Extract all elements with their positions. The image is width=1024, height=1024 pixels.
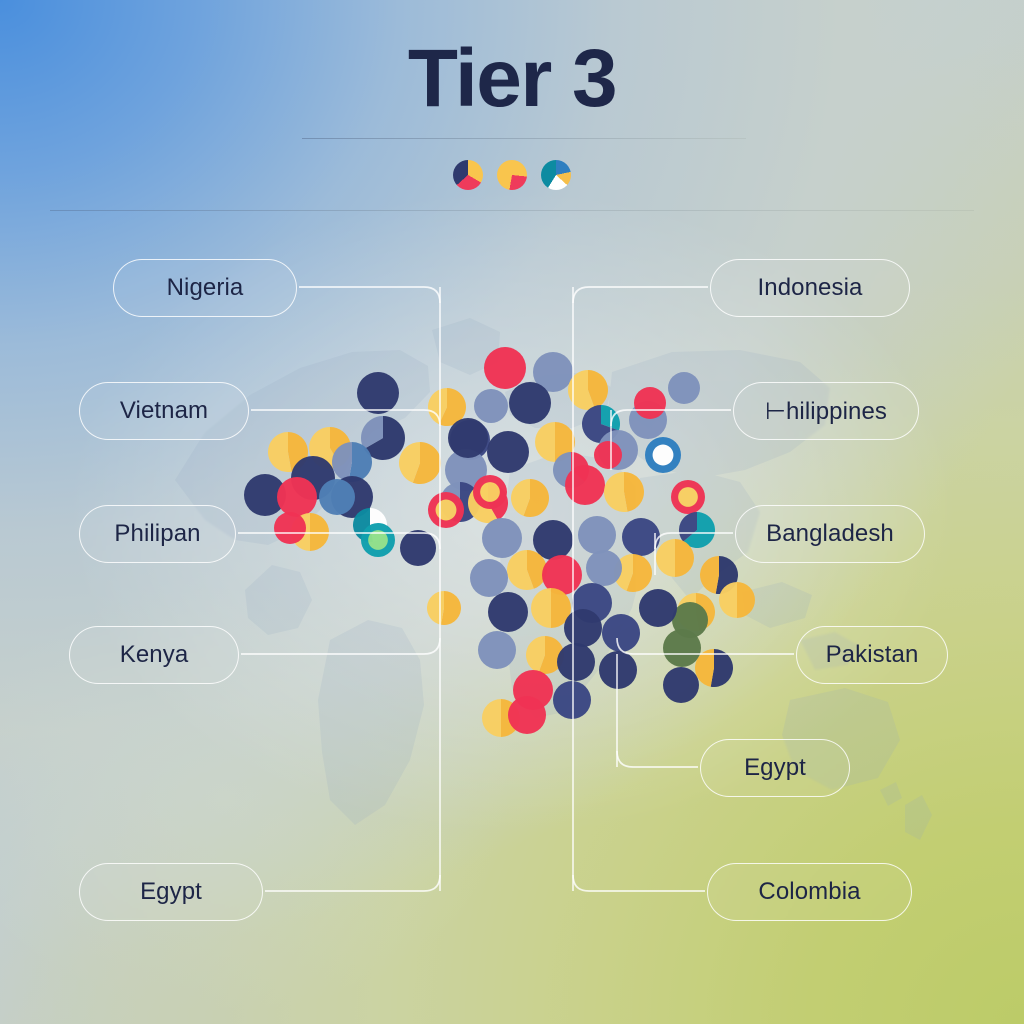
connector-line bbox=[299, 287, 440, 303]
connector-line bbox=[265, 875, 440, 891]
label-egypt-r-text: Egypt bbox=[744, 754, 806, 782]
label-indonesia-text: Indonesia bbox=[758, 274, 863, 302]
connector-line bbox=[655, 533, 733, 549]
label-philippines[interactable]: ⊢hilippines bbox=[733, 382, 919, 440]
label-bangladesh[interactable]: Bangladesh bbox=[735, 505, 925, 563]
label-kenya-text: Kenya bbox=[120, 641, 189, 669]
label-pakistan[interactable]: Pakistan bbox=[796, 626, 948, 684]
label-philipan-text: Philipan bbox=[114, 520, 200, 548]
connector-line bbox=[573, 875, 705, 891]
label-vietnam-text: Vietnam bbox=[120, 397, 208, 425]
connector-line bbox=[617, 638, 794, 654]
label-philippines-text: ⊢hilippines bbox=[765, 397, 887, 426]
label-bangladesh-text: Bangladesh bbox=[766, 520, 894, 548]
label-pakistan-text: Pakistan bbox=[826, 641, 919, 669]
label-egypt-r[interactable]: Egypt bbox=[700, 739, 850, 797]
label-kenya[interactable]: Kenya bbox=[69, 626, 239, 684]
label-vietnam[interactable]: Vietnam bbox=[79, 382, 249, 440]
label-indonesia[interactable]: Indonesia bbox=[710, 259, 910, 317]
label-nigeria[interactable]: Nigeria bbox=[113, 259, 297, 317]
connector-line bbox=[241, 638, 440, 654]
label-colombia-text: Colombia bbox=[758, 878, 860, 906]
label-colombia[interactable]: Colombia bbox=[707, 863, 912, 921]
label-philipan[interactable]: Philipan bbox=[79, 505, 236, 563]
connector-line bbox=[573, 287, 708, 303]
connector-line bbox=[611, 410, 731, 426]
connector-line bbox=[617, 751, 698, 767]
label-egypt-bl[interactable]: Egypt bbox=[79, 863, 263, 921]
connector-line bbox=[238, 533, 440, 549]
label-nigeria-text: Nigeria bbox=[167, 274, 244, 302]
infographic-canvas: Tier 3 NigeriaVietnamPhilipanKenyaEgyptI… bbox=[0, 0, 1024, 1024]
label-egypt-bl-text: Egypt bbox=[140, 878, 202, 906]
connector-line bbox=[251, 410, 440, 426]
